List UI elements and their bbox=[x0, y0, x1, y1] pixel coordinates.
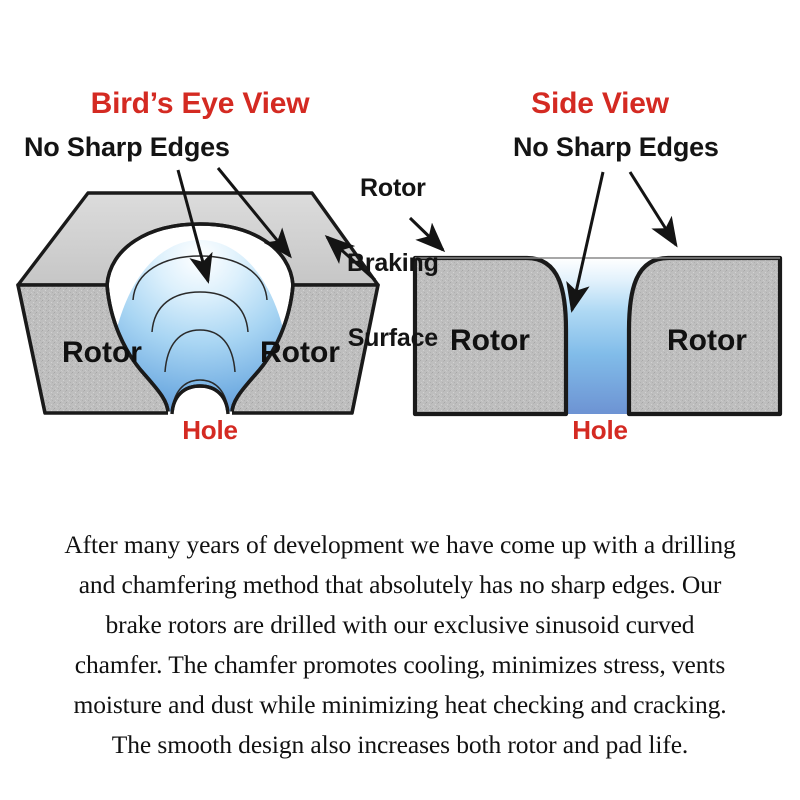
paragraph-line: After many years of development we have … bbox=[10, 525, 790, 565]
callout-no-sharp-edges-birds-eye: No Sharp Edges bbox=[24, 133, 230, 161]
page-root: Rotor Rotor bbox=[0, 0, 800, 800]
paragraph-line: moisture and dust while minimizing heat … bbox=[10, 685, 790, 725]
description-paragraph: After many years of development we have … bbox=[10, 525, 790, 765]
paragraph-line: The smooth design also increases both ro… bbox=[10, 725, 790, 765]
callout-hole-side-view: Hole bbox=[540, 417, 660, 444]
rotor-label-be-left: Rotor bbox=[62, 336, 142, 369]
side-view-title: Side View bbox=[420, 88, 780, 119]
callout-hole-birds-eye: Hole bbox=[150, 417, 270, 444]
callout-line-1: Rotor bbox=[347, 176, 439, 201]
callout-no-sharp-edges-side-view: No Sharp Edges bbox=[513, 133, 719, 161]
rotor-label-be-right: Rotor bbox=[260, 336, 340, 369]
arrow-no-sharp-edges-sv-2 bbox=[630, 172, 676, 245]
side-view-diagram: Rotor Rotor bbox=[415, 172, 780, 414]
callout-line-2: Braking bbox=[347, 251, 439, 276]
birds-eye-view-title: Bird’s Eye View bbox=[0, 88, 400, 119]
callout-rotor-braking-surface: Rotor Braking Surface bbox=[347, 126, 439, 401]
diagram-area: Rotor Rotor bbox=[0, 0, 800, 470]
rotor-label-sv-left: Rotor bbox=[450, 324, 530, 357]
birds-eye-diagram: Rotor Rotor bbox=[18, 168, 378, 414]
callout-line-3: Surface bbox=[347, 326, 439, 351]
paragraph-line: brake rotors are drilled with our exclus… bbox=[10, 605, 790, 645]
rotor-label-sv-right: Rotor bbox=[667, 324, 747, 357]
paragraph-line: chamfer. The chamfer promotes cooling, m… bbox=[10, 645, 790, 685]
paragraph-line: and chamfering method that absolutely ha… bbox=[10, 565, 790, 605]
